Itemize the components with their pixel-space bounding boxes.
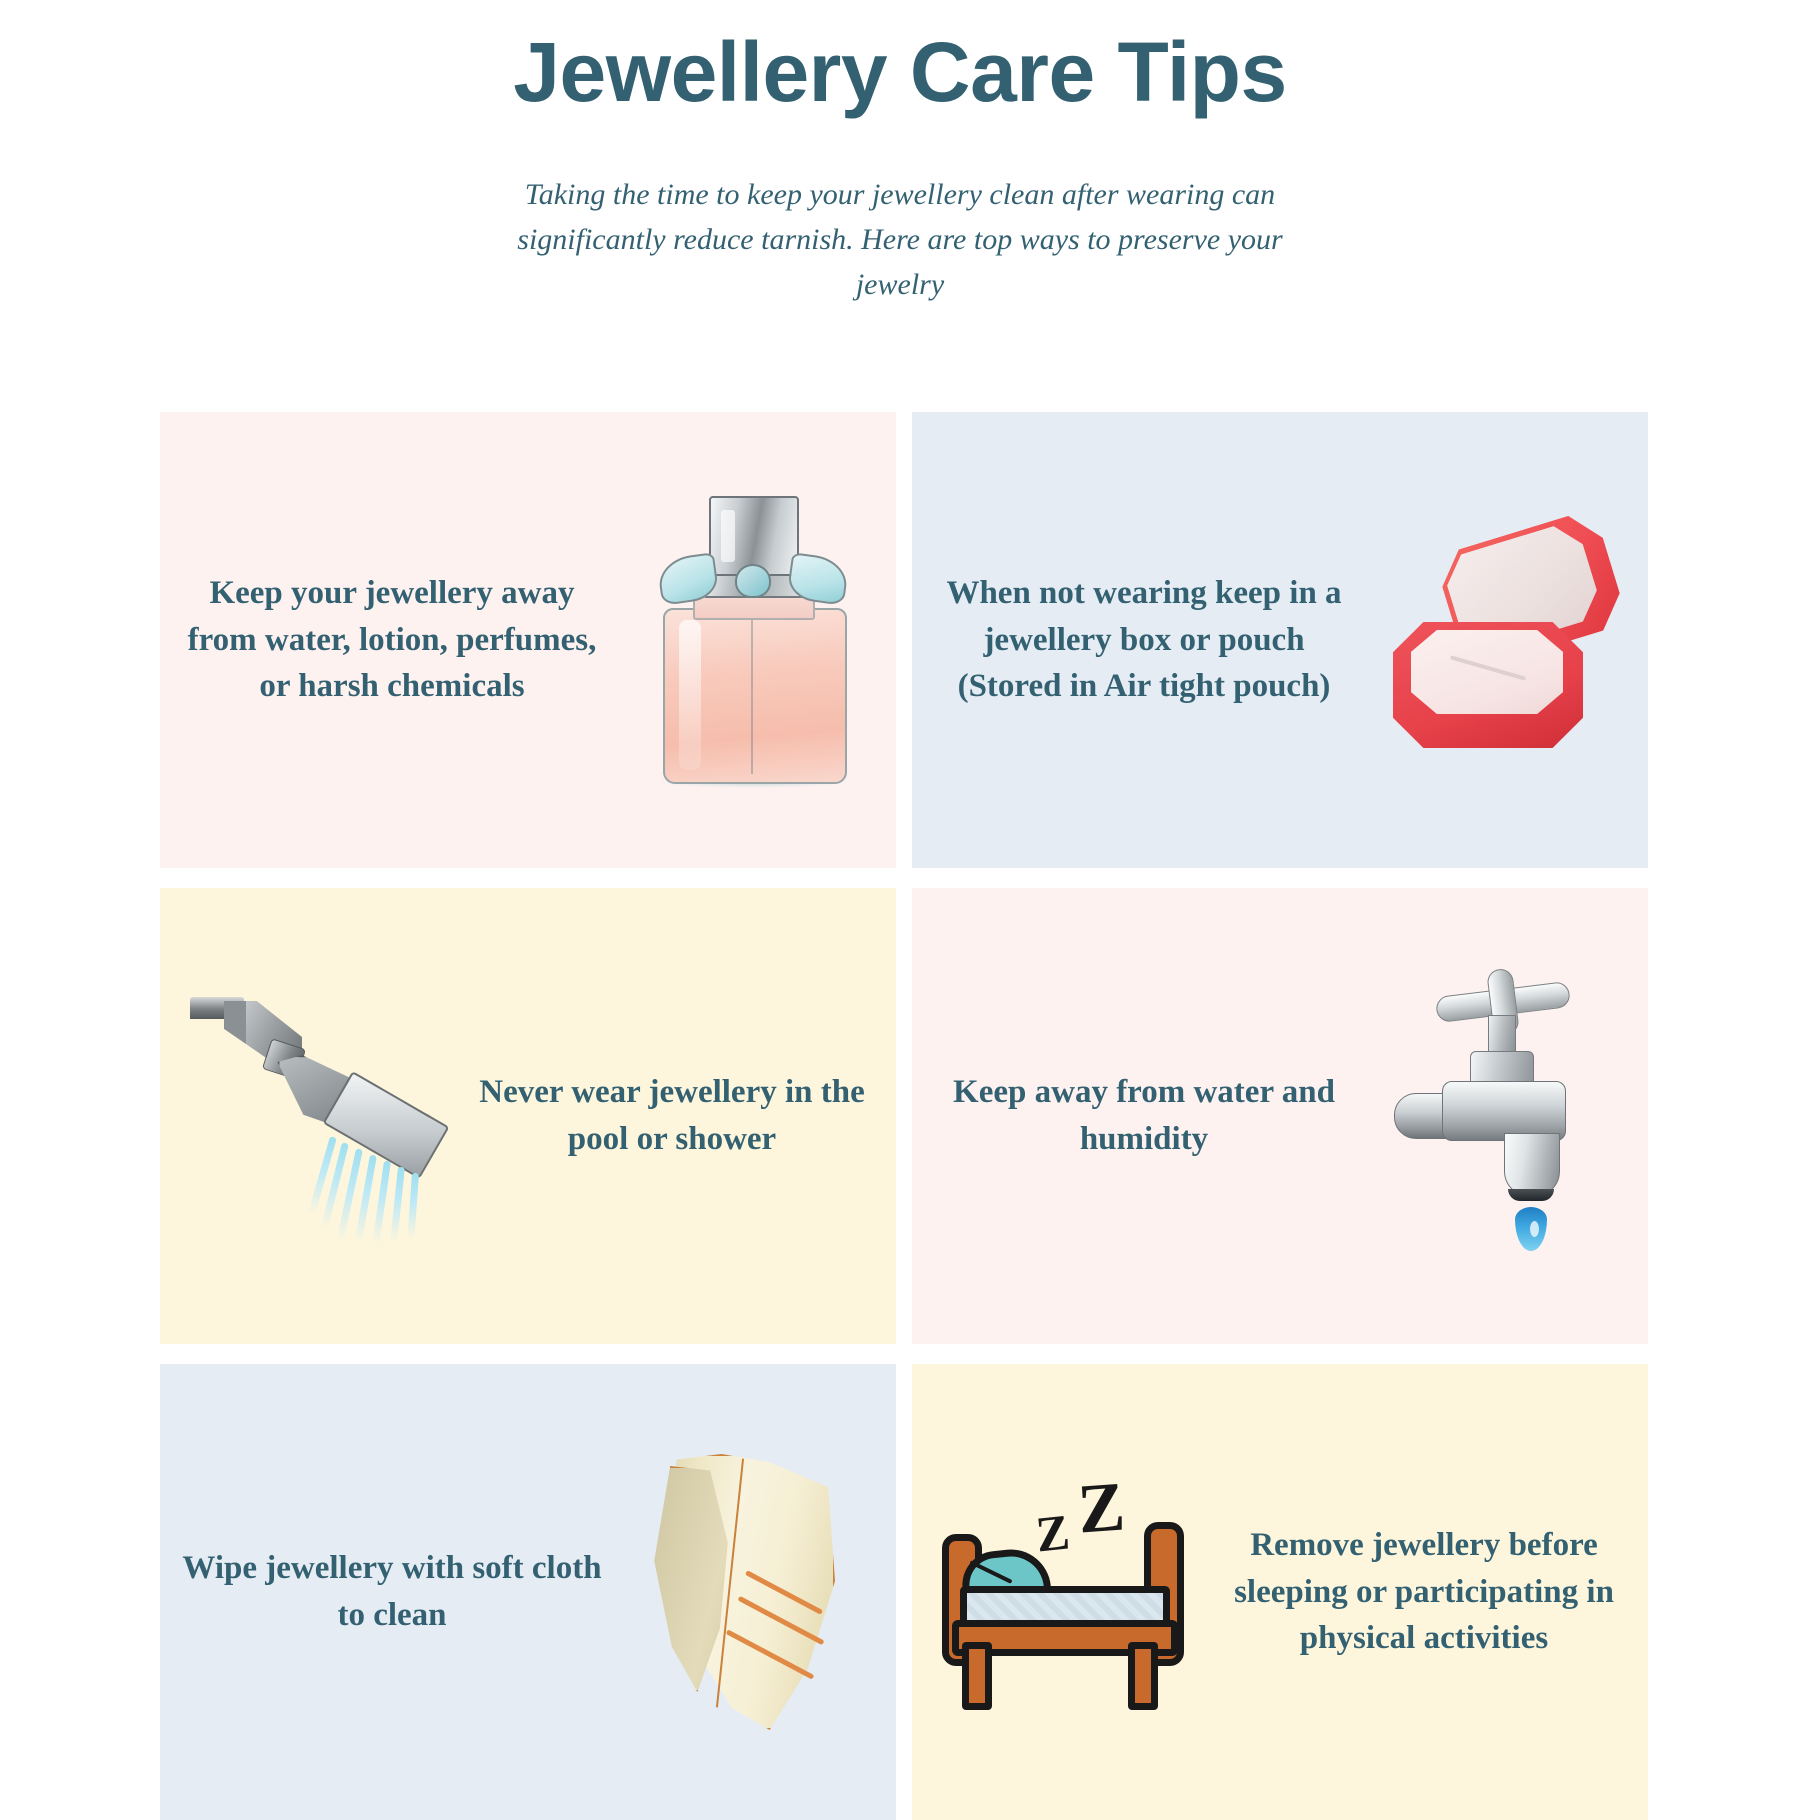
- card-chemicals: Keep your jewellery away from water, lot…: [160, 412, 896, 868]
- card-chemicals-art: [608, 412, 896, 868]
- header: Jewellery Care Tips Taking the time to k…: [0, 0, 1800, 307]
- bed-leg-right: [1128, 1642, 1158, 1710]
- card-storage-art: [1360, 412, 1648, 868]
- page-title: Jewellery Care Tips: [0, 28, 1800, 116]
- card-wipe-cloth: Wipe jewellery with soft cloth to clean: [160, 1364, 896, 1820]
- card-water-humidity-text: Keep away from water and humidity: [928, 1069, 1360, 1163]
- card-water-humidity-art: [1360, 888, 1648, 1344]
- card-chemicals-text: Keep your jewellery away from water, lot…: [176, 570, 608, 711]
- sleep-z-large: Z: [1076, 1472, 1127, 1545]
- card-water-humidity: Keep away from water and humidity: [912, 888, 1648, 1344]
- card-sleeping-art: z Z Z: [912, 1364, 1212, 1820]
- card-storage-text: When not wearing keep in a jewellery box…: [928, 570, 1360, 711]
- faucet-spout-lip: [1508, 1189, 1554, 1201]
- shower-head-icon: [180, 991, 440, 1241]
- card-storage: When not wearing keep in a jewellery box…: [912, 412, 1648, 868]
- polishing-cloth-icon: [637, 1442, 867, 1742]
- card-wipe-cloth-art: [608, 1364, 896, 1820]
- card-pool-shower-art: [160, 888, 460, 1344]
- bed-leg-left: [962, 1642, 992, 1710]
- faucet-icon: [1384, 971, 1624, 1261]
- faucet-body: [1442, 1081, 1566, 1141]
- card-sleeping: z Z Z Remove jewellery before sleeping o…: [912, 1364, 1648, 1820]
- bed-icon: z Z Z: [932, 1482, 1192, 1702]
- ring-box-icon: [1389, 530, 1619, 750]
- faucet-spout: [1504, 1133, 1560, 1197]
- card-pool-shower: Never wear jewellery in the pool or show…: [160, 888, 896, 1344]
- perfume-body: [663, 608, 847, 784]
- water-drop-icon: [1515, 1207, 1547, 1251]
- tips-grid: Keep your jewellery away from water, lot…: [160, 412, 1648, 1820]
- infographic-page: Jewellery Care Tips Taking the time to k…: [0, 0, 1800, 1800]
- ring-box-cushion: [1411, 630, 1563, 714]
- perfume-bow-knot: [735, 564, 771, 598]
- card-wipe-cloth-text: Wipe jewellery with soft cloth to clean: [176, 1545, 608, 1639]
- sleep-z-medium: Z: [1033, 1506, 1071, 1559]
- page-subtitle: Taking the time to keep your jewellery c…: [500, 172, 1300, 307]
- card-pool-shower-text: Never wear jewellery in the pool or show…: [460, 1069, 884, 1163]
- card-sleeping-text: Remove jewellery before sleeping or part…: [1212, 1522, 1636, 1663]
- perfume-bottle-icon: [647, 490, 857, 790]
